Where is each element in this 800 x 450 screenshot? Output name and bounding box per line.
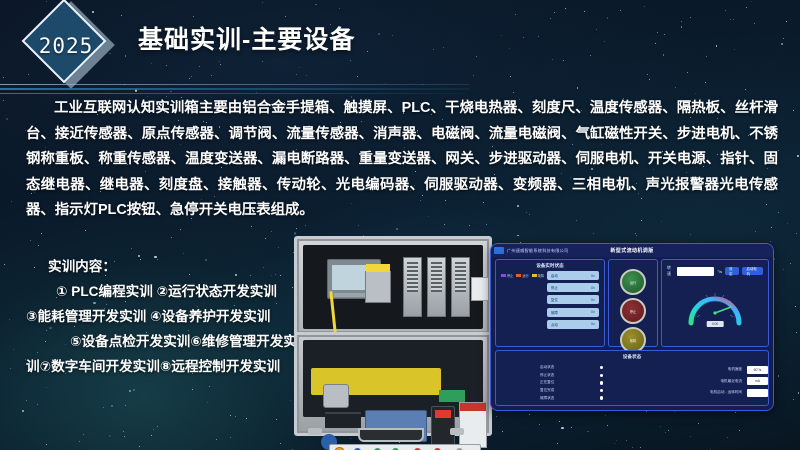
status-field-label: 电机速度 — [690, 367, 742, 372]
hmi-button-start[interactable]: 启动 On — [547, 271, 599, 280]
status-field-label: 电机启动 - 运转时间 — [690, 390, 742, 395]
lamp-stop-indicator[interactable]: 停止 — [620, 298, 646, 324]
status-label: 启动状态 — [540, 365, 574, 370]
hmi-title: 新型式流动机调版 — [491, 247, 773, 254]
vfd-display — [435, 410, 451, 418]
hmi-button-value: On — [591, 298, 595, 302]
status-label: 复位完成 — [540, 388, 574, 393]
status-row: 故障状态 — [540, 394, 690, 402]
speed-gauge: 0.00 — [683, 279, 747, 329]
legend-swatch-run — [516, 274, 521, 277]
indicator-lamp-stack: 运行 停止 故障 — [609, 269, 657, 353]
status-field-row: 电机启动 - 运转时间 — [690, 387, 768, 399]
hmi-button-label: 点动 — [551, 322, 558, 327]
hmi-button-stop[interactable]: 停止 On — [547, 283, 599, 292]
hmi-button-label: 故障 — [551, 310, 558, 315]
status-field-label: 电机最近电流 — [690, 379, 742, 384]
hmi-software-screenshot: 广州速威智能系统科技有限公司 新型式流动机调版 设备实时状态 停止 运行 — [490, 243, 774, 411]
panel-realtime-status-title: 设备实时状态 — [496, 263, 604, 269]
status-field-value: 60°/s — [754, 368, 762, 372]
legend-label: 故障 — [538, 273, 544, 278]
panel-device-status: 设备状态 启动状态 停止状态 正在复位 — [495, 350, 769, 406]
slide-root: 2025 基础实训-主要设备 工业互联网认知实训箱主要由铝合金手提箱、触摸屏、P… — [0, 0, 800, 450]
page-title: 基础实训-主要设备 — [138, 20, 355, 56]
case-foot-left — [308, 428, 322, 435]
hmi-button-value: On — [591, 286, 595, 290]
hmi-button-fault[interactable]: 故障 On — [547, 308, 599, 317]
white-terminal-block — [471, 277, 489, 301]
panel-indicator-lamps: 运行 停止 故障 — [608, 259, 658, 347]
set-speed-button[interactable]: 设定 — [725, 267, 739, 275]
terminal-strip — [325, 412, 361, 428]
header-divider-2 — [0, 88, 470, 90]
case-base-interior — [303, 340, 483, 417]
header-divider-1 — [0, 84, 470, 85]
case-lid — [294, 236, 492, 336]
hmi-title-bar: 广州速威智能系统科技有限公司 新型式流动机调版 — [491, 244, 773, 257]
hmi-button-value: On — [591, 310, 595, 314]
servo-motor — [323, 384, 349, 408]
status-dot — [600, 396, 603, 399]
legend-swatch-stop — [501, 274, 506, 277]
gauge-needle — [715, 307, 731, 313]
status-field-input[interactable]: mA — [747, 377, 768, 385]
legend-label: 运行 — [522, 273, 528, 278]
description-paragraph: 工业互联网认知实训箱主要由铝合金手提箱、触摸屏、PLC、干烧电热器、刻度尺、温度… — [26, 96, 778, 224]
hmi-button-label: 复位 — [551, 297, 558, 302]
status-field-column: 电机速度 60°/s 电机最近电流 mA 电机启动 - 运转时间 — [690, 364, 768, 402]
status-row: 停止状态 — [540, 372, 690, 380]
training-case-photo — [286, 232, 494, 448]
hmi-button-value: On — [591, 322, 595, 326]
control-panel-strip — [329, 444, 481, 450]
relay-top-label — [460, 403, 486, 411]
relay-module — [459, 402, 487, 448]
status-label: 停止状态 — [540, 373, 574, 378]
hmi-button-value: On — [591, 274, 595, 278]
content-heading: 实训内容： — [26, 254, 288, 279]
case-base — [294, 332, 492, 436]
panel-speed-gauge: 转速 °/s 设定 启动电机 — [661, 259, 769, 347]
content-line-2: ③能耗管理开发实训 ④设备养护开发实训 — [26, 304, 288, 329]
panel-realtime-status: 设备实时状态 停止 运行 故障 — [495, 259, 605, 347]
status-field-row: 电机最近电流 mA — [690, 376, 768, 388]
status-indicator-column: 启动状态 停止状态 正在复位 复位完成 — [496, 364, 690, 402]
legend-item: 运行 — [516, 273, 528, 278]
green-connector-block — [439, 390, 465, 402]
device-status-grid: 启动状态 停止状态 正在复位 复位完成 — [496, 364, 768, 402]
content-line-3: ⑤设备点检开发实训⑥维修管理开发实 — [26, 329, 288, 354]
status-row: 复位完成 — [540, 387, 690, 395]
case-handle — [358, 428, 424, 442]
variable-frequency-drive — [431, 406, 455, 448]
stepper-driver-2 — [427, 257, 446, 317]
status-field-value: mA — [755, 379, 760, 383]
gauge-hub — [713, 311, 716, 314]
hmi-button-label: 停止 — [551, 285, 558, 290]
speed-unit-label: °/s — [717, 269, 722, 274]
hmi-button-jog[interactable]: 点动 On — [547, 320, 599, 329]
lamp-label: 故障 — [630, 338, 636, 343]
legend-label: 停止 — [507, 273, 513, 278]
status-field-input[interactable] — [747, 389, 768, 397]
status-dot — [600, 366, 603, 369]
status-dot — [600, 374, 603, 377]
yellow-mounting-plate — [311, 368, 441, 395]
hmi-upper-panels: 设备实时状态 停止 运行 故障 — [495, 259, 769, 347]
status-label: 故障状态 — [540, 396, 574, 401]
hmi-button-reset[interactable]: 复位 On — [547, 295, 599, 304]
gauge-arc — [691, 299, 739, 323]
content-line-1: ① PLC编程实训 ②运行状态开发实训 — [26, 279, 288, 304]
legend-swatch-fault — [532, 274, 537, 277]
lamp-run-indicator[interactable]: 运行 — [620, 269, 646, 295]
content-line-4: 训⑦数字车间开发实训⑧远程控制开发实训 — [26, 354, 288, 379]
year-badge: 2025 — [12, 6, 120, 90]
legend-item: 停止 — [501, 273, 513, 278]
case-foot-right — [450, 428, 464, 435]
status-row: 正在复位 — [540, 379, 690, 387]
status-field-input[interactable]: 60°/s — [747, 366, 768, 374]
status-field-row: 电机速度 60°/s — [690, 364, 768, 376]
start-motor-button[interactable]: 启动电机 — [742, 267, 763, 275]
hmi-button-list: 启动 On 停止 On 复位 On 故障 On — [547, 271, 599, 329]
gauge-value-readout: 0.00 — [707, 321, 724, 327]
status-row: 启动状态 — [540, 364, 690, 372]
stepper-driver-3 — [451, 257, 470, 317]
speed-control-row: 转速 °/s 设定 启动电机 — [667, 265, 763, 277]
panel-device-status-title: 设备状态 — [496, 354, 768, 360]
hmi-button-label: 启动 — [551, 273, 558, 278]
speed-input[interactable] — [677, 267, 714, 276]
header-divider-3 — [0, 93, 465, 94]
training-content-block: 实训内容： ① PLC编程实训 ②运行状态开发实训 ③能耗管理开发实训 ④设备养… — [26, 254, 288, 379]
status-dot — [600, 389, 603, 392]
lamp-label: 停止 — [630, 309, 636, 314]
legend-item: 故障 — [532, 273, 544, 278]
status-label: 正在复位 — [540, 380, 574, 385]
case-lid-interior — [303, 245, 483, 329]
power-supply-module — [365, 271, 391, 303]
status-dot — [600, 381, 603, 384]
stepper-driver-1 — [403, 257, 422, 317]
lamp-label: 运行 — [630, 280, 636, 285]
psu-warning-label — [366, 264, 390, 272]
speed-label: 转速 — [667, 265, 674, 277]
badge-year-label: 2025 — [12, 6, 120, 86]
